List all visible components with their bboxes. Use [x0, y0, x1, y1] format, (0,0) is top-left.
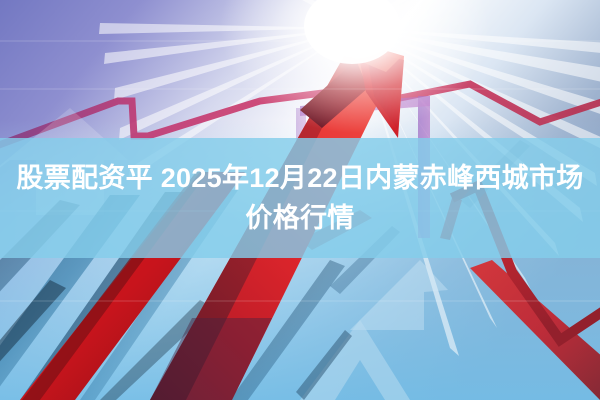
title-block: 股票配资平 2025年12月22日内蒙赤峰西城市场 价格行情 [0, 138, 600, 258]
thumbnail-image: 股票配资平 2025年12月22日内蒙赤峰西城市场 价格行情 [0, 0, 600, 400]
title-line-1: 股票配资平 2025年12月22日内蒙赤峰西城市场 [16, 163, 583, 193]
title-line-2: 价格行情 [245, 203, 354, 233]
